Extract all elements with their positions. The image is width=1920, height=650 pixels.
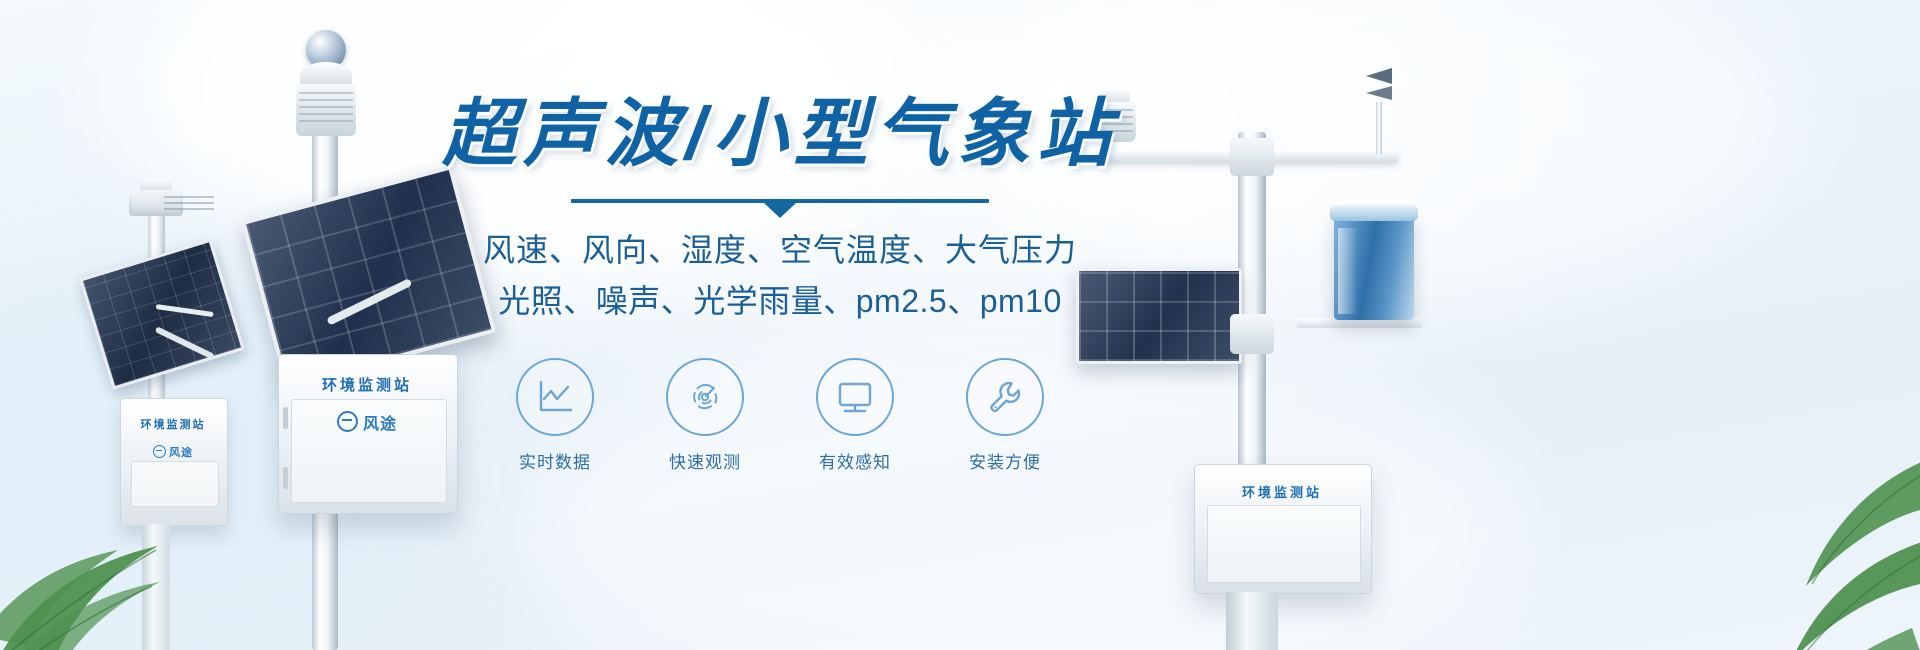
cabinet-hinge-bottom: [283, 467, 288, 489]
radiation-shield-sensor: [296, 84, 356, 136]
cabinet-door-panel: [1207, 505, 1361, 583]
feature-item-easy-install[interactable]: 安装方便: [963, 358, 1047, 473]
chevron-down-icon: [764, 203, 796, 218]
palm-leaf-right-icon: [1660, 420, 1920, 650]
feature-item-realtime-data[interactable]: 实时数据: [513, 358, 597, 473]
subtitle-line-2: 光照、噪声、光学雨量、pm2.5、pm10: [430, 276, 1130, 327]
feature-list: 实时数据: [430, 358, 1130, 473]
feature-item-fast-observation[interactable]: 快速观测: [663, 358, 747, 473]
cabinet-label: 环境监测站: [1194, 482, 1370, 501]
feature-item-effective-sensing[interactable]: 有效感知: [813, 358, 897, 473]
banner-content: 超声波/小型气象站 风速、风向、湿度、空气温度、大气压力 光照、噪声、光学雨量、…: [430, 96, 1130, 473]
feature-label: 实时数据: [513, 448, 597, 473]
wrench-icon: [966, 358, 1044, 436]
monitor-icon: [816, 358, 894, 436]
feature-label: 快速观测: [663, 448, 747, 473]
temperature-shield-sensor: [129, 190, 183, 216]
line-chart-icon: [516, 358, 594, 436]
banner-subtitle: 风速、风向、湿度、空气温度、大气压力 光照、噪声、光学雨量、pm2.5、pm10: [430, 225, 1130, 326]
pole-base: [1226, 592, 1278, 650]
pole-base: [142, 524, 170, 650]
subtitle-line-1: 风速、风向、湿度、空气温度、大气压力: [430, 225, 1130, 276]
solar-panel: [79, 239, 245, 390]
feature-label: 有效感知: [813, 448, 897, 473]
cabinet-label: 环境监测站: [122, 416, 224, 432]
wind-vane-post: [1376, 102, 1382, 154]
crossarm-clamp: [1230, 138, 1274, 176]
brand-mark-icon: [153, 445, 166, 458]
rain-gauge-sensor: [1334, 212, 1414, 320]
product-banner: 环境监测站 风途 环境监测站 风途: [0, 0, 1920, 650]
banner-title: 超声波/小型气象站: [430, 96, 1130, 173]
title-divider: [571, 195, 989, 211]
brand-mark-icon: [337, 411, 358, 432]
brand-name: 风途: [363, 416, 397, 433]
mid-clamp: [1230, 314, 1274, 354]
radar-scan-icon: [666, 358, 744, 436]
feature-label: 安装方便: [963, 448, 1047, 473]
brand-logo: 风途: [122, 444, 224, 460]
brand-name: 风途: [169, 447, 193, 459]
